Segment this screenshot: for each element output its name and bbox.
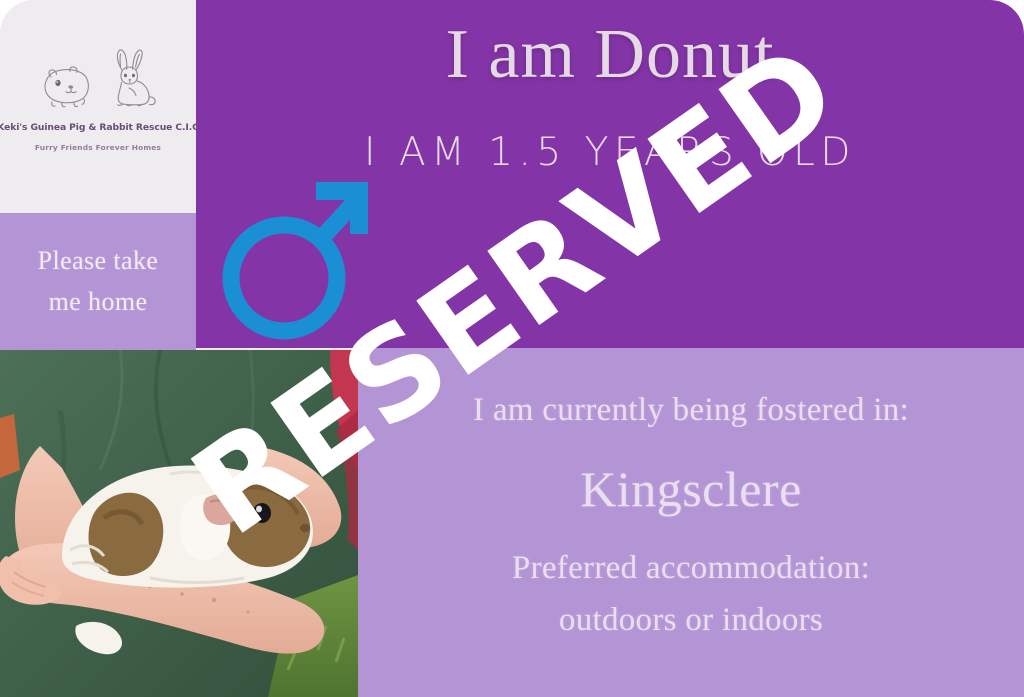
rescue-tagline: Furry Friends Forever Homes (35, 143, 161, 152)
foster-info-panel: I am currently being fostered in: Kingsc… (358, 348, 1024, 697)
logo-animal-icons (38, 42, 158, 108)
pet-photo (0, 350, 358, 697)
age-subtitle: I AM 1.5 YEARS OLD (196, 130, 1024, 175)
foster-location: Kingsclere (358, 460, 1024, 518)
rabbit-icon (108, 48, 158, 108)
guinea-pig-icon (38, 62, 94, 108)
fostered-label: I am currently being fostered in: (358, 392, 1024, 429)
take-home-line-1: Please take (38, 241, 159, 281)
rescue-logo-panel: Keki's Guinea Pig & Rabbit Rescue C.I.C … (0, 0, 196, 213)
accommodation-label: Preferred accommodation: (358, 550, 1024, 587)
accommodation-value: outdoors or indoors (358, 602, 1024, 639)
take-home-line-2: me home (49, 282, 148, 322)
rescue-org-name: Keki's Guinea Pig & Rabbit Rescue C.I.C (0, 122, 199, 133)
male-gender-icon (222, 172, 374, 342)
adoption-poster: Keki's Guinea Pig & Rabbit Rescue C.I.C … (0, 0, 1024, 697)
take-me-home-panel: Please take me home (0, 213, 196, 350)
page-title: I am Donut (196, 16, 1024, 93)
